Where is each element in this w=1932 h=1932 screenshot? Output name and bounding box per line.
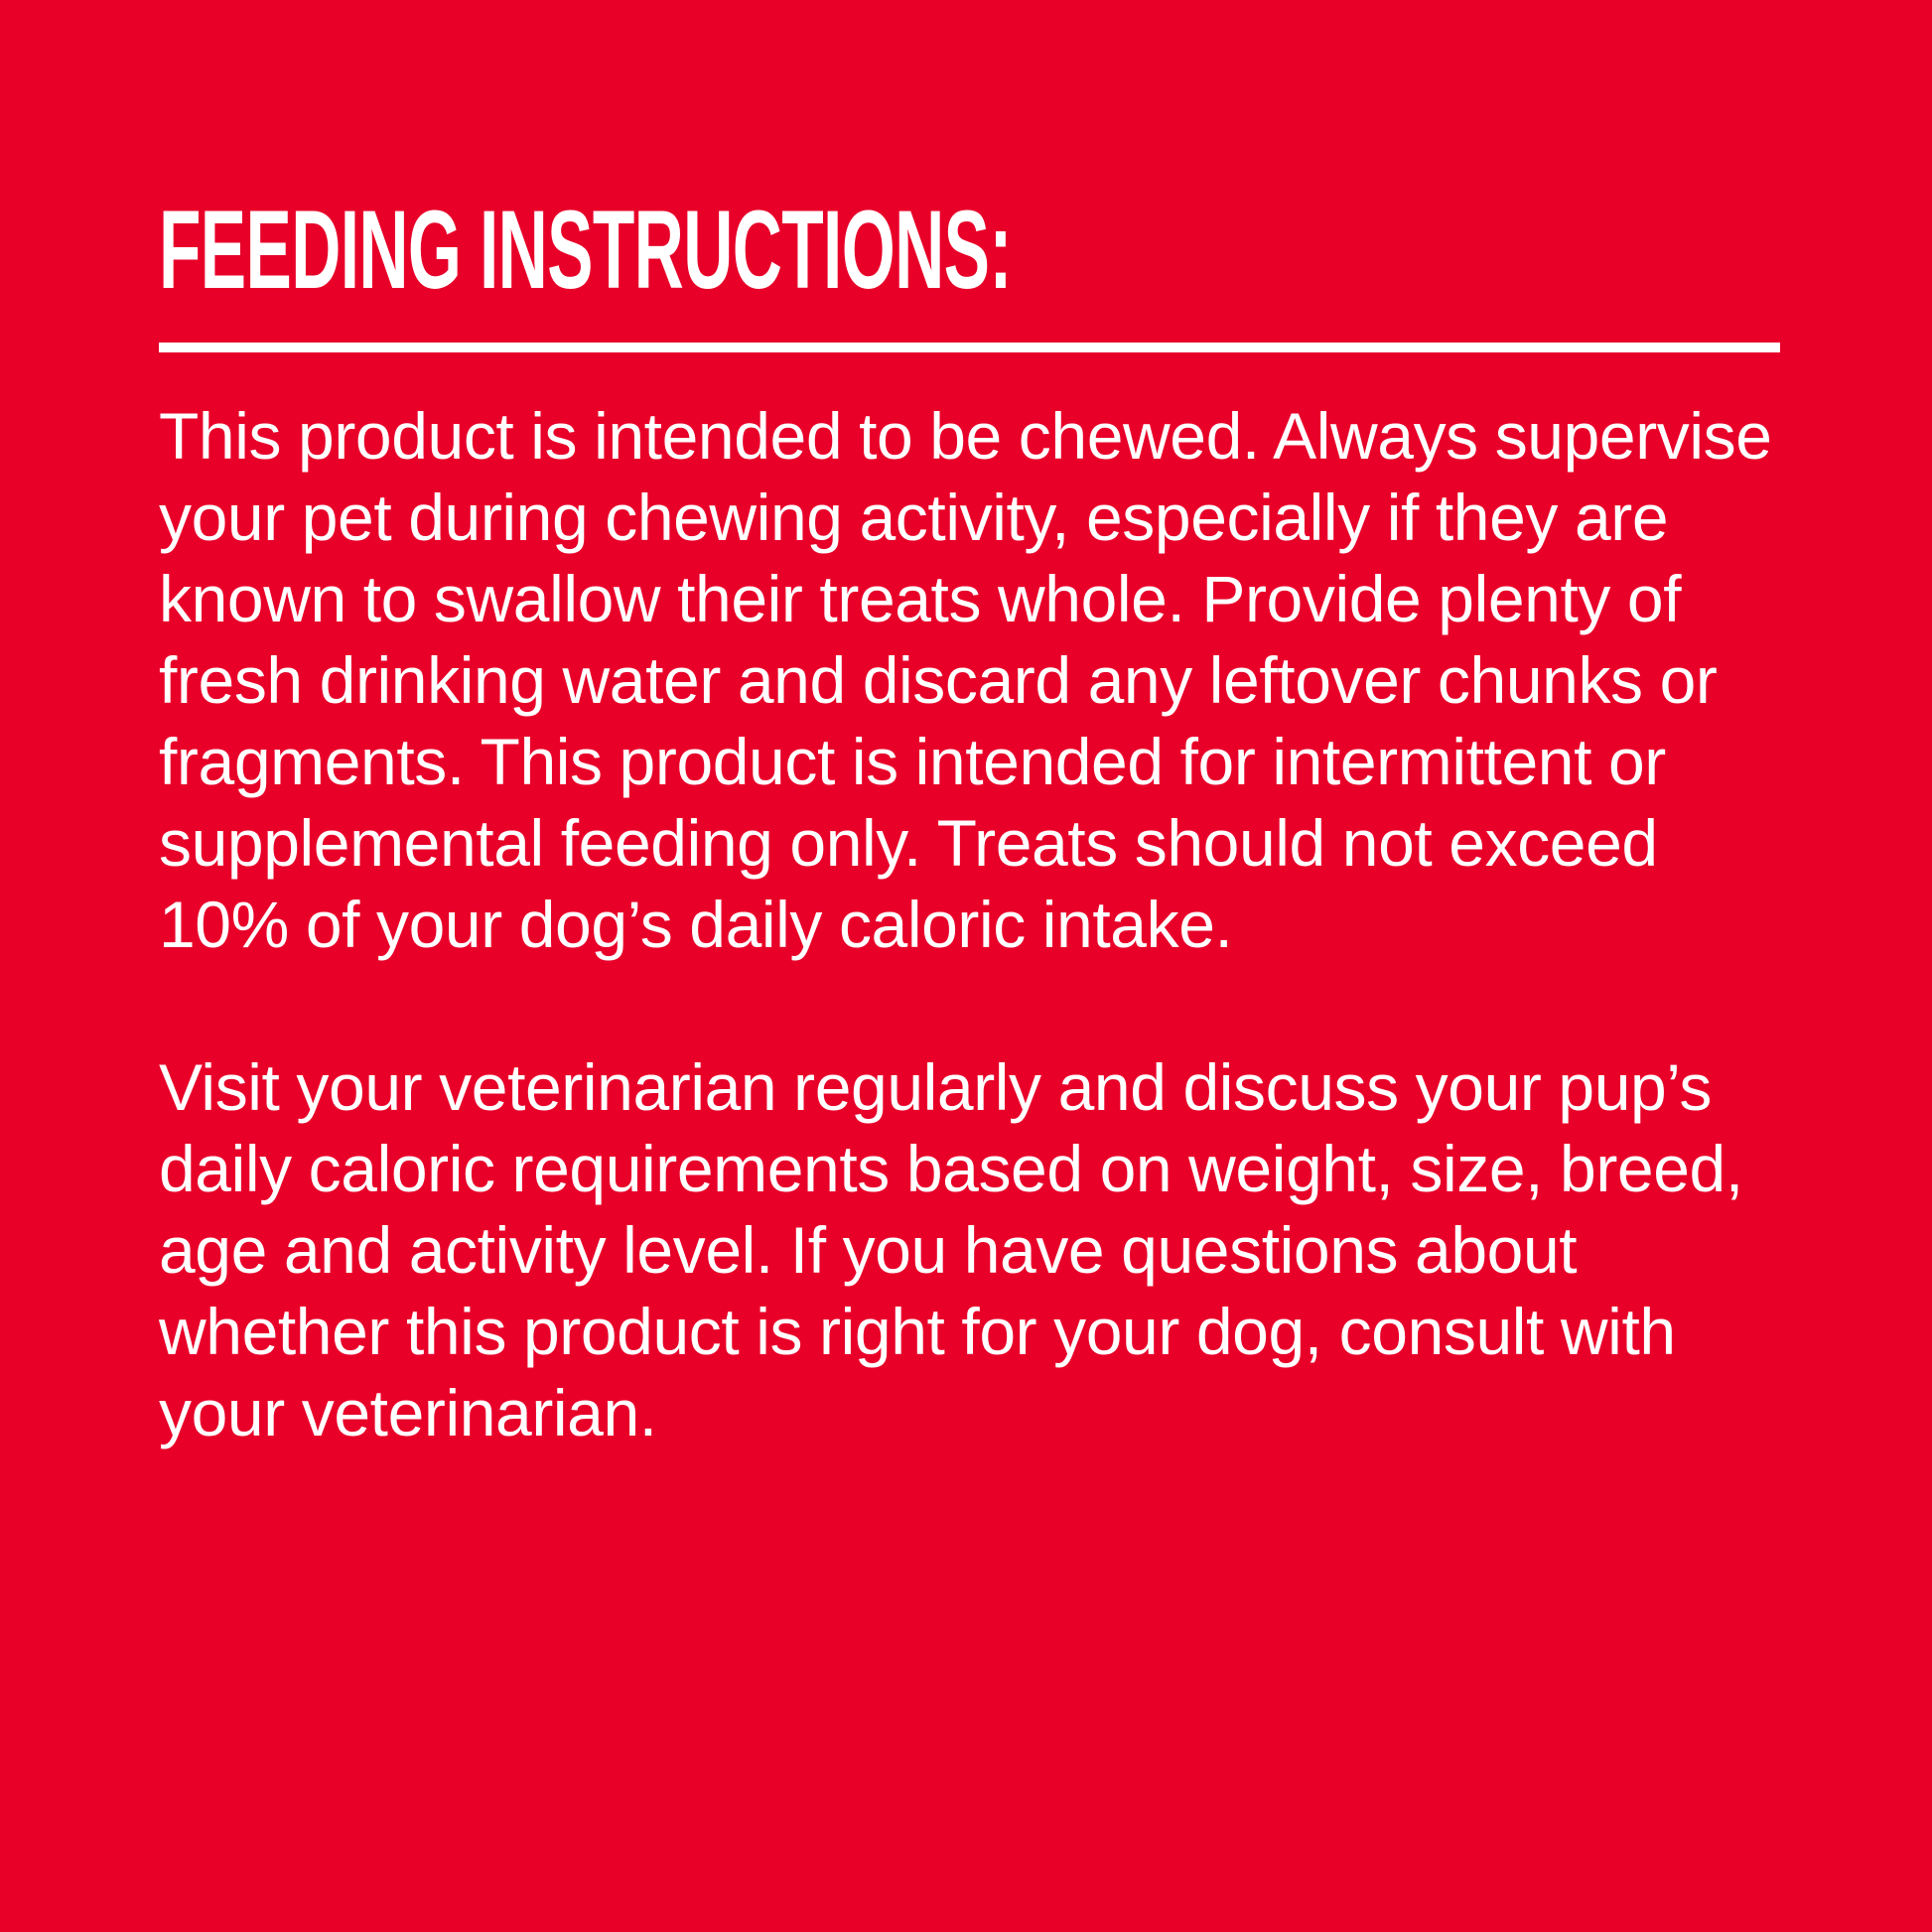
heading-divider-rule [159,343,1780,352]
instructions-paragraph-1: This product is intended to be chewed. A… [159,395,1797,965]
instructions-paragraph-2: Visit your veterinarian regularly and di… [159,1046,1797,1453]
instructions-body: This product is intended to be chewed. A… [159,395,1797,1453]
page-title: FEEDING INSTRUCTIONS: [159,195,1169,306]
heading-block: FEEDING INSTRUCTIONS: [159,195,1787,306]
feeding-instructions-panel: FEEDING INSTRUCTIONS: This product is in… [0,0,1932,1932]
